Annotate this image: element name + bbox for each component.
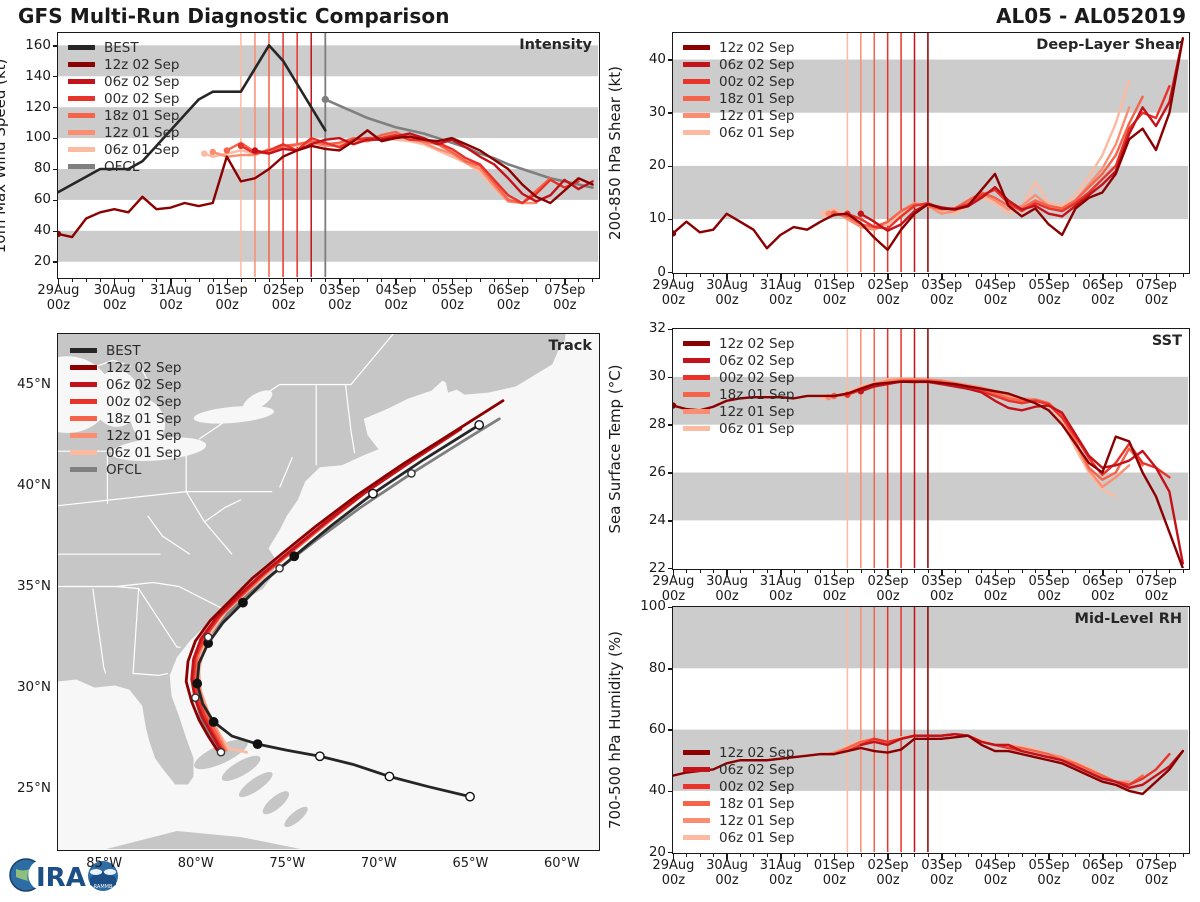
x-minor-tick — [1008, 853, 1009, 857]
x-minor-tick — [968, 273, 969, 277]
x-minor-tick — [700, 853, 701, 857]
legend-swatch — [683, 784, 710, 789]
x-minor-tick — [820, 273, 821, 277]
legend-swatch — [68, 164, 95, 169]
x-minor-tick — [767, 569, 768, 573]
x-minor-tick — [1035, 853, 1036, 857]
legend-swatch — [683, 426, 710, 431]
lon-axis-tick: 70°W — [345, 857, 413, 872]
legend-item: 12z 02 Sep — [70, 359, 181, 376]
x-minor-tick — [522, 278, 523, 282]
x-minor-tick — [700, 569, 701, 573]
x-axis-tick: 07Sep00z — [531, 284, 599, 314]
y-axis-tick: 60 — [13, 191, 51, 207]
x-minor-tick — [740, 853, 741, 857]
legend-label: 00z 02 Sep — [104, 91, 179, 107]
y-axis-tick: 80 — [13, 160, 51, 176]
legend-swatch — [68, 113, 95, 118]
y-tick-mark — [53, 138, 58, 140]
x-minor-tick — [955, 569, 956, 573]
x-minor-tick — [820, 853, 821, 857]
x-minor-tick — [1142, 853, 1143, 857]
legend-item: 12z 02 Sep — [683, 744, 794, 761]
x-minor-tick — [753, 569, 754, 573]
x-minor-tick — [1089, 853, 1090, 857]
panel-title: Track — [549, 338, 592, 354]
legend-label: 00z 02 Sep — [719, 74, 794, 90]
legend-item: 18z 01 Sep — [70, 410, 181, 427]
x-minor-tick — [794, 853, 795, 857]
x-minor-tick — [1183, 273, 1184, 277]
y-tick-mark — [53, 169, 58, 171]
x-minor-tick — [1169, 273, 1170, 277]
x-minor-tick — [1075, 273, 1076, 277]
legend-label: 18z 01 Sep — [106, 411, 181, 427]
legend-label: 12z 02 Sep — [104, 57, 179, 73]
y-tick-mark — [668, 112, 673, 114]
legend-label: 00z 02 Sep — [106, 394, 181, 410]
legend-item: 00z 02 Sep — [683, 73, 794, 90]
x-minor-tick — [874, 853, 875, 857]
x-minor-tick — [578, 278, 579, 282]
legend-swatch — [683, 130, 710, 135]
legend-label: 06z 01 Sep — [719, 830, 794, 846]
lon-axis-tick: 60°W — [528, 857, 596, 872]
legend-label: OFCL — [104, 159, 139, 175]
x-minor-tick — [72, 278, 73, 282]
x-minor-tick — [1116, 853, 1117, 857]
legend-swatch — [70, 365, 97, 370]
legend-label: 06z 02 Sep — [104, 74, 179, 90]
x-minor-tick — [713, 273, 714, 277]
x-minor-tick — [156, 278, 157, 282]
x-minor-tick — [955, 853, 956, 857]
legend-item: 18z 01 Sep — [683, 386, 794, 403]
x-minor-tick — [1035, 569, 1036, 573]
y-axis-tick: 30 — [628, 368, 666, 384]
x-minor-tick — [807, 273, 808, 277]
page-title: GFS Multi-Run Diagnostic Comparison — [18, 4, 450, 28]
x-minor-tick — [1129, 273, 1130, 277]
x-minor-tick — [128, 278, 129, 282]
legend-item: 12z 01 Sep — [68, 124, 179, 141]
legend-item: 18z 01 Sep — [68, 107, 179, 124]
y-axis-tick: 60 — [628, 721, 666, 737]
y-tick-mark — [668, 472, 673, 474]
x-minor-tick — [100, 278, 101, 282]
y-tick-mark — [668, 329, 673, 331]
lat-axis-tick: 45°N — [1, 376, 51, 392]
x-minor-tick — [1089, 569, 1090, 573]
legend-label: 00z 02 Sep — [719, 779, 794, 795]
y-tick-mark — [668, 166, 673, 168]
x-minor-tick — [1089, 273, 1090, 277]
lat-axis-tick: 30°N — [1, 679, 51, 695]
y-axis-tick: 20 — [628, 157, 666, 173]
x-minor-tick — [1062, 273, 1063, 277]
y-axis-tick: 40 — [628, 51, 666, 67]
legend-item: OFCL — [68, 158, 179, 175]
legend-label: 06z 01 Sep — [719, 421, 794, 437]
x-minor-tick — [753, 273, 754, 277]
x-minor-tick — [241, 278, 242, 282]
x-minor-tick — [353, 278, 354, 282]
y-tick-mark — [53, 261, 58, 263]
x-minor-tick — [297, 278, 298, 282]
legend-label: 18z 01 Sep — [719, 796, 794, 812]
x-minor-tick — [185, 278, 186, 282]
x-minor-tick — [968, 853, 969, 857]
legend-swatch — [70, 399, 97, 404]
x-minor-tick — [1062, 569, 1063, 573]
lat-axis-tick: 40°N — [1, 477, 51, 493]
panel-intensity[interactable]: IntensityBEST12z 02 Sep06z 02 Sep00z 02 … — [57, 32, 600, 279]
x-minor-tick — [1169, 569, 1170, 573]
legend-item: 06z 02 Sep — [683, 352, 794, 369]
x-minor-tick — [981, 853, 982, 857]
x-minor-tick — [861, 273, 862, 277]
y-tick-mark — [53, 231, 58, 233]
panel-rh[interactable]: Mid-Level RH12z 02 Sep06z 02 Sep00z 02 S… — [672, 606, 1190, 854]
legend-swatch — [70, 433, 97, 438]
x-minor-tick — [1116, 273, 1117, 277]
x-minor-tick — [901, 273, 902, 277]
y-axis-tick: 20 — [13, 253, 51, 269]
y-tick-mark — [668, 219, 673, 221]
x-minor-tick — [255, 278, 256, 282]
y-axis-tick: 28 — [628, 416, 666, 432]
y-axis-label: 700-500 hPa Humidity (%) — [606, 631, 624, 829]
x-minor-tick — [794, 569, 795, 573]
panel-title: SST — [1152, 333, 1182, 349]
x-minor-tick — [1035, 273, 1036, 277]
legend-item: 12z 01 Sep — [683, 812, 794, 829]
y-axis-tick: 24 — [628, 512, 666, 528]
x-minor-tick — [536, 278, 537, 282]
legend-label: BEST — [106, 343, 141, 359]
x-minor-tick — [914, 569, 915, 573]
panel-title: Intensity — [519, 37, 592, 53]
y-tick-mark — [668, 520, 673, 522]
legend-item: 00z 02 Sep — [683, 369, 794, 386]
x-minor-tick — [874, 569, 875, 573]
x-minor-tick — [1129, 569, 1130, 573]
y-axis-tick: 40 — [628, 782, 666, 798]
lon-axis-tick: 85°W — [70, 857, 138, 872]
lon-axis-tick: 65°W — [436, 857, 504, 872]
x-minor-tick — [753, 853, 754, 857]
legend-item: 06z 01 Sep — [68, 141, 179, 158]
x-minor-tick — [424, 278, 425, 282]
legend-item: 06z 02 Sep — [68, 73, 179, 90]
y-axis-tick: 140 — [13, 68, 51, 84]
y-tick-mark — [668, 791, 673, 793]
x-minor-tick — [466, 278, 467, 282]
x-minor-tick — [86, 278, 87, 282]
legend-label: 12z 02 Sep — [106, 360, 181, 376]
legend-swatch — [683, 96, 710, 101]
legend-swatch — [683, 409, 710, 414]
x-minor-tick — [1183, 569, 1184, 573]
legend-label: 12z 01 Sep — [719, 404, 794, 420]
legend-label: 12z 01 Sep — [719, 108, 794, 124]
legend-item: BEST — [68, 39, 179, 56]
x-minor-tick — [213, 278, 214, 282]
x-minor-tick — [700, 273, 701, 277]
panel-title: Deep-Layer Shear — [1036, 37, 1182, 53]
legend-label: 06z 01 Sep — [719, 125, 794, 141]
y-axis-tick: 26 — [628, 464, 666, 480]
x-minor-tick — [269, 278, 270, 282]
legend-swatch — [68, 62, 95, 67]
legend-item: 12z 01 Sep — [70, 427, 181, 444]
legend-swatch — [683, 358, 710, 363]
y-tick-mark — [53, 76, 58, 78]
legend-item: 00z 02 Sep — [683, 778, 794, 795]
x-minor-tick — [928, 853, 929, 857]
x-minor-tick — [686, 569, 687, 573]
x-minor-tick — [861, 853, 862, 857]
x-minor-tick — [847, 853, 848, 857]
legend-item: 06z 02 Sep — [683, 761, 794, 778]
legend-item: 12z 02 Sep — [683, 39, 794, 56]
legend-swatch — [683, 341, 710, 346]
y-tick-mark — [53, 200, 58, 202]
lat-axis-tick: 25°N — [1, 780, 51, 796]
panel-track[interactable]: TrackBEST12z 02 Sep06z 02 Sep00z 02 Sep1… — [57, 333, 600, 851]
x-minor-tick — [686, 273, 687, 277]
legend-swatch — [70, 348, 97, 353]
legend-intensity: BEST12z 02 Sep06z 02 Sep00z 02 Sep18z 01… — [68, 39, 179, 175]
x-minor-tick — [767, 853, 768, 857]
legend-swatch — [683, 818, 710, 823]
y-axis-tick: 32 — [628, 320, 666, 336]
x-minor-tick — [1022, 853, 1023, 857]
x-minor-tick — [767, 273, 768, 277]
x-minor-tick — [713, 853, 714, 857]
svg-text:RAMMB: RAMMB — [94, 884, 113, 890]
x-minor-tick — [914, 853, 915, 857]
lat-axis-tick: 35°N — [1, 578, 51, 594]
y-axis-label: 10m Max Wind Speed (kt) — [0, 58, 9, 253]
x-minor-tick — [325, 278, 326, 282]
legend-item: 06z 02 Sep — [70, 376, 181, 393]
y-tick-mark — [53, 107, 58, 109]
legend-label: 18z 01 Sep — [104, 108, 179, 124]
panel-sst[interactable]: SST12z 02 Sep06z 02 Sep00z 02 Sep18z 01 … — [672, 328, 1190, 570]
legend-item: 12z 02 Sep — [683, 335, 794, 352]
legend-swatch — [683, 375, 710, 380]
x-minor-tick — [311, 278, 312, 282]
y-tick-mark — [668, 59, 673, 61]
x-minor-tick — [1075, 569, 1076, 573]
legend-label: 06z 01 Sep — [104, 142, 179, 158]
legend-rh: 12z 02 Sep06z 02 Sep00z 02 Sep18z 01 Sep… — [683, 744, 794, 846]
x-minor-tick — [794, 273, 795, 277]
legend-item: 12z 01 Sep — [683, 403, 794, 420]
x-minor-tick — [1129, 853, 1130, 857]
x-minor-tick — [1075, 853, 1076, 857]
legend-item: 06z 01 Sep — [683, 420, 794, 437]
x-minor-tick — [592, 278, 593, 282]
x-axis-tick: 07Sep00z — [1122, 279, 1190, 309]
legend-swatch — [683, 835, 710, 840]
legend-item: 06z 01 Sep — [683, 124, 794, 141]
legend-swatch — [683, 79, 710, 84]
legend-item: 06z 01 Sep — [70, 444, 181, 461]
y-tick-mark — [668, 607, 673, 609]
x-axis-tick: 07Sep00z — [1122, 859, 1190, 889]
y-tick-mark — [668, 668, 673, 670]
x-minor-tick — [981, 273, 982, 277]
x-minor-tick — [914, 273, 915, 277]
x-minor-tick — [928, 569, 929, 573]
x-minor-tick — [480, 278, 481, 282]
legend-swatch — [70, 450, 97, 455]
x-minor-tick — [740, 569, 741, 573]
y-axis-tick: 160 — [13, 37, 51, 53]
x-minor-tick — [367, 278, 368, 282]
legend-label: 06z 02 Sep — [719, 353, 794, 369]
legend-swatch — [683, 113, 710, 118]
storm-id-label: AL05 - AL052019 — [996, 4, 1186, 28]
legend-label: 12z 01 Sep — [106, 428, 181, 444]
legend-item: BEST — [70, 342, 181, 359]
x-minor-tick — [820, 569, 821, 573]
legend-label: 12z 02 Sep — [719, 745, 794, 761]
y-axis-tick: 120 — [13, 99, 51, 115]
x-minor-tick — [713, 569, 714, 573]
legend-label: 06z 02 Sep — [719, 57, 794, 73]
x-minor-tick — [928, 273, 929, 277]
legend-item: 00z 02 Sep — [70, 393, 181, 410]
legend-item: OFCL — [70, 461, 181, 478]
x-minor-tick — [142, 278, 143, 282]
y-axis-tick: 80 — [628, 660, 666, 676]
x-minor-tick — [955, 273, 956, 277]
lon-axis-tick: 80°W — [162, 857, 230, 872]
legend-item: 06z 01 Sep — [683, 829, 794, 846]
legend-label: 18z 01 Sep — [719, 387, 794, 403]
legend-label: 00z 02 Sep — [719, 370, 794, 386]
legend-label: BEST — [104, 40, 139, 56]
x-minor-tick — [410, 278, 411, 282]
x-minor-tick — [1022, 569, 1023, 573]
panel-title: Mid-Level RH — [1075, 611, 1182, 627]
x-minor-tick — [981, 569, 982, 573]
panel-shear[interactable]: Deep-Layer Shear12z 02 Sep06z 02 Sep00z … — [672, 32, 1190, 274]
x-minor-tick — [381, 278, 382, 282]
legend-swatch — [683, 62, 710, 67]
y-axis-tick: 40 — [13, 222, 51, 238]
y-axis-label: Sea Surface Temp (°C) — [606, 364, 624, 533]
legend-label: 06z 01 Sep — [106, 445, 181, 461]
x-minor-tick — [1022, 273, 1023, 277]
x-minor-tick — [1142, 569, 1143, 573]
legend-swatch — [683, 750, 710, 755]
y-axis-label: 200-850 hPa Shear (kt) — [606, 66, 624, 240]
x-minor-tick — [1008, 273, 1009, 277]
y-tick-mark — [668, 377, 673, 379]
legend-swatch — [68, 96, 95, 101]
legend-label: OFCL — [106, 462, 141, 478]
x-minor-tick — [807, 853, 808, 857]
legend-sst: 12z 02 Sep06z 02 Sep00z 02 Sep18z 01 Sep… — [683, 335, 794, 437]
x-minor-tick — [874, 273, 875, 277]
y-tick-mark — [668, 424, 673, 426]
x-minor-tick — [1008, 569, 1009, 573]
legend-swatch — [683, 392, 710, 397]
legend-label: 18z 01 Sep — [719, 91, 794, 107]
y-axis-tick: 10 — [628, 210, 666, 226]
x-minor-tick — [847, 273, 848, 277]
lon-axis-tick: 75°W — [253, 857, 321, 872]
x-minor-tick — [1142, 273, 1143, 277]
x-minor-tick — [847, 569, 848, 573]
legend-item: 06z 02 Sep — [683, 56, 794, 73]
x-minor-tick — [861, 569, 862, 573]
legend-swatch — [683, 801, 710, 806]
legend-label: 12z 01 Sep — [719, 813, 794, 829]
legend-swatch — [68, 130, 95, 135]
x-minor-tick — [686, 853, 687, 857]
x-minor-tick — [550, 278, 551, 282]
y-axis-tick: 100 — [13, 129, 51, 145]
legend-swatch — [70, 382, 97, 387]
legend-label: 12z 02 Sep — [719, 336, 794, 352]
legend-swatch — [683, 767, 710, 772]
y-tick-mark — [668, 729, 673, 731]
legend-item: 00z 02 Sep — [68, 90, 179, 107]
legend-swatch — [683, 45, 710, 50]
legend-swatch — [68, 147, 95, 152]
x-minor-tick — [901, 853, 902, 857]
legend-track: BEST12z 02 Sep06z 02 Sep00z 02 Sep18z 01… — [70, 342, 181, 478]
x-minor-tick — [1169, 853, 1170, 857]
legend-item: 12z 01 Sep — [683, 107, 794, 124]
x-minor-tick — [807, 569, 808, 573]
x-minor-tick — [1183, 853, 1184, 857]
x-minor-tick — [199, 278, 200, 282]
legend-item: 18z 01 Sep — [683, 795, 794, 812]
legend-label: 12z 01 Sep — [104, 125, 179, 141]
y-axis-tick: 30 — [628, 104, 666, 120]
y-axis-tick: 100 — [628, 598, 666, 614]
x-minor-tick — [438, 278, 439, 282]
legend-label: 06z 02 Sep — [106, 377, 181, 393]
x-minor-tick — [1116, 569, 1117, 573]
x-minor-tick — [901, 569, 902, 573]
y-tick-mark — [53, 45, 58, 47]
x-minor-tick — [740, 273, 741, 277]
legend-swatch — [70, 416, 97, 421]
legend-item: 12z 02 Sep — [68, 56, 179, 73]
x-minor-tick — [968, 569, 969, 573]
legend-swatch — [68, 45, 95, 50]
x-axis-tick: 07Sep00z — [1122, 575, 1190, 605]
x-minor-tick — [494, 278, 495, 282]
legend-item: 18z 01 Sep — [683, 90, 794, 107]
legend-swatch — [70, 467, 97, 472]
legend-label: 12z 02 Sep — [719, 40, 794, 56]
x-minor-tick — [1062, 853, 1063, 857]
legend-shear: 12z 02 Sep06z 02 Sep00z 02 Sep18z 01 Sep… — [683, 39, 794, 141]
legend-swatch — [68, 79, 95, 84]
legend-label: 06z 02 Sep — [719, 762, 794, 778]
